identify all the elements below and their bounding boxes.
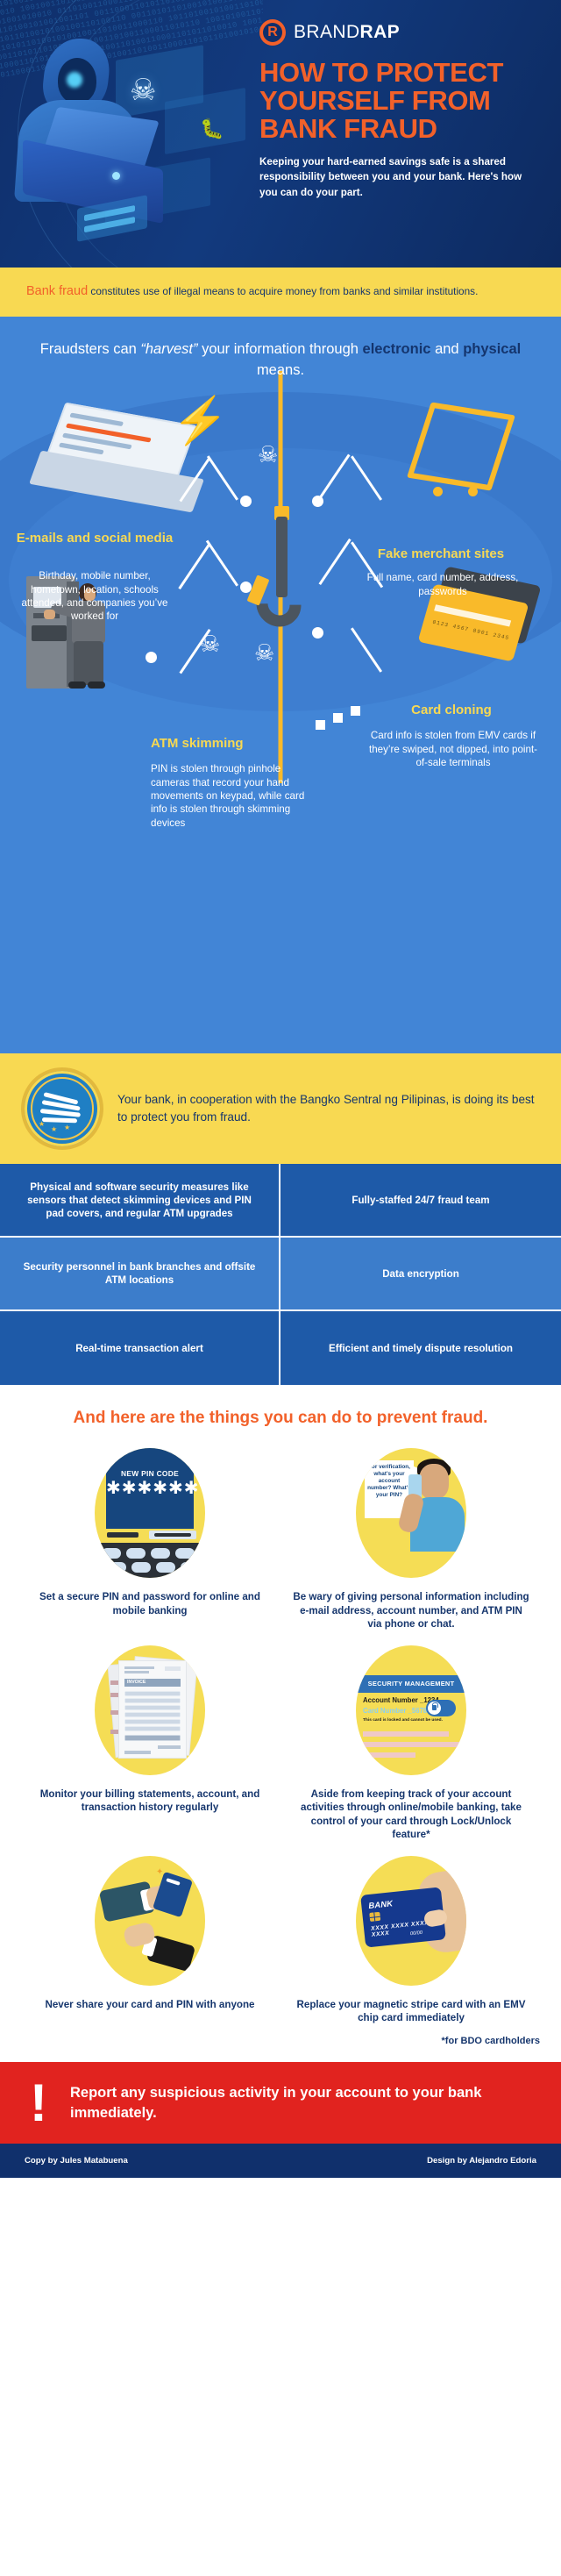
harvest-item-body-atm-skimming: PIN is stolen through pinhole cameras th… — [151, 762, 314, 829]
fishing-hook-icon — [250, 517, 311, 648]
emv-chip-icon — [369, 1912, 380, 1922]
alert-band: ! Report any suspicious activity in your… — [0, 2062, 561, 2144]
bsp-band: ★★★ Your bank, in cooperation with the B… — [0, 1053, 561, 1164]
footer-copy-credit: Copy by Jules Matabuena — [25, 2156, 128, 2166]
tip-card: INVOICE Monitor your billing statements,… — [19, 1645, 280, 1842]
measure-cell: Security personnel in bank branches and … — [0, 1238, 280, 1311]
definition-highlight: Bank fraud — [26, 284, 88, 298]
pin-screen-value: ✱✱✱✱✱✱ — [106, 1480, 194, 1497]
hacker-illustration: 1011010010100100110100110001101011010010… — [0, 0, 263, 268]
harvest-section: Fraudsters can “harvest” your informatio… — [0, 317, 561, 1053]
harvest-heading-part1: Fraudsters can — [40, 341, 141, 357]
tip-caption: Monitor your billing statements, account… — [32, 1788, 268, 1815]
page-title: HOW TO PROTECT YOURSELF FROM BANK FRAUD — [259, 59, 542, 143]
footer-design-credit: Design by Alejandro Edoria — [427, 2156, 536, 2166]
measure-cell: Real-time transaction alert — [0, 1311, 280, 1385]
logo-initial: R — [267, 25, 278, 39]
tip-card: NEW PIN CODE ✱✱✱✱✱✱ Set a secure PIN and… — [19, 1448, 280, 1631]
phone-call-icon: For verification, what’s your account nu… — [356, 1448, 466, 1578]
bug-icon: 🐛 — [200, 118, 224, 140]
harvest-heading-emphasis: “harvest” — [140, 341, 197, 357]
security-panel-title: SECURITY MANAGEMENT — [356, 1675, 466, 1693]
harvest-item-title-emails: E-mails and social media — [12, 531, 177, 546]
harvest-item-body-card-cloning: Card info is stolen from EMV cards if th… — [368, 729, 538, 769]
bsp-seal-icon: ★★★ — [25, 1071, 100, 1146]
brandrap-logo[interactable]: R BRANDRAP — [259, 19, 542, 46]
logo-brand-text: BRAND — [294, 22, 360, 42]
hero-subtitle: Keeping your hard-earned savings safe is… — [259, 154, 522, 200]
card-locked-note: This card is locked and cannot be used. — [363, 1718, 443, 1723]
harvest-heading-part2: your information through — [198, 341, 363, 357]
harvest-heading-bold-electronic: electronic — [363, 341, 431, 357]
bsp-statement: Your bank, in cooperation with the Bangk… — [117, 1091, 536, 1127]
logo-mark-icon: R — [259, 19, 286, 46]
invoice-label: INVOICE — [124, 1679, 181, 1687]
hand-card-icon: ✦ — [95, 1856, 205, 1986]
tip-caption: Never share your card and PIN with anyon… — [45, 1998, 254, 2012]
harvest-item-title-fake-sites: Fake merchant sites — [331, 546, 550, 561]
laptop-pin-icon: NEW PIN CODE ✱✱✱✱✱✱ — [95, 1448, 205, 1578]
harvest-heading-part4: means. — [257, 362, 304, 378]
security-management-icon: SECURITY MANAGEMENT Account Number _1234… — [356, 1645, 466, 1775]
tip-caption: Be wary of giving personal information i… — [293, 1590, 529, 1631]
harvest-item-title-card-cloning: Card cloning — [359, 703, 543, 717]
harvest-item-body-emails: Birthday, mobile number, hometown, locat… — [21, 569, 168, 623]
skull-crossbones-icon: ☠ — [200, 632, 220, 655]
measure-cell: Fully-staffed 24/7 fraud team — [280, 1164, 561, 1238]
card-expiry-text: 00/00 — [410, 1930, 423, 1937]
pixel-dot — [316, 720, 325, 730]
hero-section: 1011010010100100110100110001101011010010… — [0, 0, 561, 268]
harvest-item-title-atm-skimming: ATM skimming — [151, 736, 326, 751]
card-brand-text: BANK — [368, 1898, 394, 1910]
lock-toggle[interactable] — [426, 1700, 456, 1716]
measure-cell: Efficient and timely dispute resolution — [280, 1311, 561, 1385]
prevention-heading: And here are the things you can do to pr… — [0, 1408, 561, 1429]
harvest-heading-bold-physical: physical — [463, 341, 521, 357]
laptop-light — [112, 172, 120, 180]
tip-caption: Aside from keeping track of your account… — [293, 1788, 529, 1842]
definition-band: Bank fraud constitutes use of illegal me… — [0, 268, 561, 317]
tip-card: ✦ Never share your card and PIN with any… — [19, 1856, 280, 2025]
skull-crossbones-icon: ☠ — [258, 443, 278, 466]
invoice-icon: INVOICE — [95, 1645, 205, 1775]
alert-text: Report any suspicious activity in your a… — [70, 2083, 535, 2123]
prevention-section: And here are the things you can do to pr… — [0, 1385, 561, 2062]
tip-card: BANK XXXX XXXX XXXX XXXX 00/00 Replace y… — [280, 1856, 542, 2025]
bank-measures-grid: Physical and software security measures … — [0, 1164, 561, 1385]
tip-caption: Set a secure PIN and password for online… — [32, 1590, 268, 1617]
logo-brand-bold-text: RAP — [360, 22, 401, 42]
harvest-heading: Fraudsters can “harvest” your informatio… — [0, 339, 561, 381]
tip-card: SECURITY MANAGEMENT Account Number _1234… — [280, 1645, 542, 1842]
pixel-dot — [333, 713, 343, 723]
emv-card-icon: BANK XXXX XXXX XXXX XXXX 00/00 — [356, 1856, 466, 1986]
hero-text-block: R BRANDRAP HOW TO PROTECT YOURSELF FROM … — [259, 0, 561, 200]
definition-text: Bank fraud constitutes use of illegal me… — [26, 282, 535, 301]
definition-rest: constitutes use of illegal means to acqu… — [88, 285, 478, 297]
prevention-tips-grid: NEW PIN CODE ✱✱✱✱✱✱ Set a secure PIN and… — [0, 1448, 561, 2025]
tip-card: For verification, what’s your account nu… — [280, 1448, 542, 1631]
logo-wordmark: BRANDRAP — [294, 22, 400, 43]
harvest-item-body-fake-sites: Full name, card number, address, passwor… — [344, 571, 542, 598]
harvest-heading-part3: and — [430, 341, 463, 357]
prevention-footnote: *for BDO cardholders — [0, 2025, 561, 2057]
exclamation-icon: ! — [30, 2081, 47, 2124]
card-number-text: Card Number _5678 — [363, 1707, 427, 1715]
tip-caption: Replace your magnetic stripe card with a… — [293, 1998, 529, 2025]
pin-screen-label: NEW PIN CODE — [106, 1469, 194, 1478]
footer: Copy by Jules Matabuena Design by Alejan… — [0, 2144, 561, 2178]
measure-cell: Physical and software security measures … — [0, 1164, 280, 1238]
measure-cell: Data encryption — [280, 1238, 561, 1311]
lock-icon — [428, 1702, 441, 1715]
